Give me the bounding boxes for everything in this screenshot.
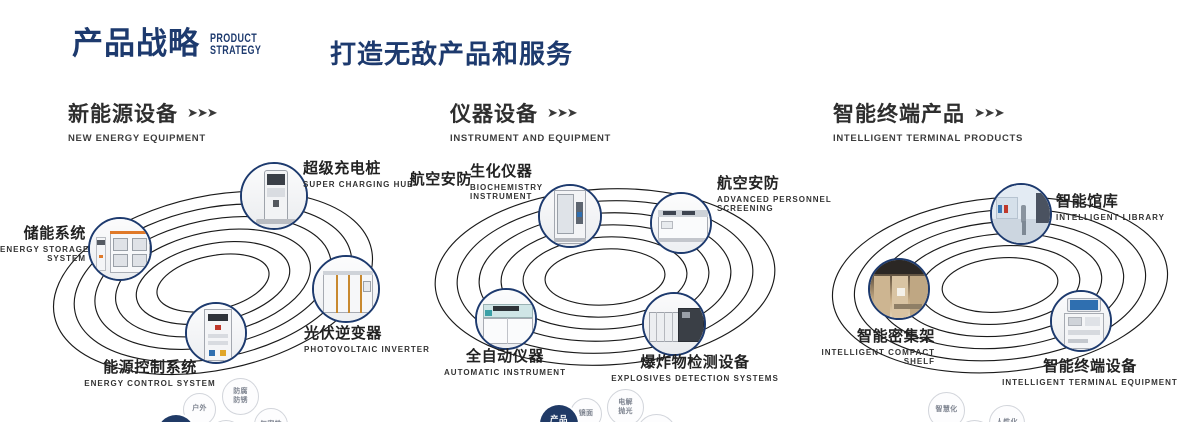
- node-energy-control-system[interactable]: [185, 302, 247, 364]
- feature-bubble: 智慧化: [928, 392, 965, 422]
- node-label-cn: 全自动仪器: [425, 345, 585, 366]
- node-automatic-instrument[interactable]: [475, 288, 537, 350]
- node-label-cn: 生化仪器: [470, 160, 543, 181]
- label-energy-control-system: 能源控制系统 ENERGY CONTROL SYSTEM: [70, 356, 230, 388]
- node-label-en-line2: SHELF: [790, 357, 935, 366]
- section-title-en: NEW ENERGY EQUIPMENT: [68, 133, 217, 144]
- chevrons-icon: ➤➤➤: [974, 105, 1004, 121]
- node-explosives-detection-systems[interactable]: [642, 292, 706, 356]
- node-label-en-line1: INTELLIGENT COMPACT: [790, 348, 935, 357]
- page-title-en-line2: STRATEGY: [210, 46, 261, 58]
- node-biochemistry-instrument[interactable]: [538, 184, 602, 248]
- node-intelligent-compact-shelf[interactable]: [868, 258, 930, 320]
- feature-label-line1: 智慧化: [936, 406, 958, 415]
- page-title-en-line1: PRODUCT: [210, 34, 261, 46]
- node-label-cn: 能源控制系统: [70, 356, 230, 377]
- node-label-cn: 智能终端设备: [995, 355, 1185, 376]
- feature-label-line1: 防腐: [233, 388, 248, 397]
- page-title-en: PRODUCT STRATEGY: [210, 34, 261, 57]
- node-label-cn: 航空安防: [400, 168, 472, 189]
- node-label-en-line2: INSTRUMENT: [470, 192, 543, 201]
- label-energy-storage-system: 储能系统 ENERGY STORAGE SYSTEM: [0, 222, 86, 263]
- label-automatic-instrument: 全自动仪器 AUTOMATIC INSTRUMENT: [425, 345, 585, 377]
- feature-bubble: 人性化: [989, 405, 1025, 422]
- feature-label-line2: 抛光: [618, 408, 633, 417]
- product-strategy-infographic: 产品战略 PRODUCT STRATEGY 打造无敌产品和服务 新能源设备 ➤➤…: [0, 0, 1200, 422]
- node-label-en: EXPLOSIVES DETECTION SYSTEMS: [600, 374, 790, 383]
- node-label-cn: 超级充电桩: [303, 157, 414, 178]
- section-header-intelligent-terminal: 智能终端产品 ➤➤➤ INTELLIGENT TERMINAL PRODUCTS: [833, 98, 1023, 144]
- cluster-instrument-and-equipment: 镜面 电解 抛光 零缺陷 钣金与 机加工结合 产品 特点 航空安防: [400, 150, 820, 400]
- section-title-en: INTELLIGENT TERMINAL PRODUCTS: [833, 133, 1023, 144]
- feature-label-line1: 镜面: [579, 410, 594, 419]
- section-title-cn: 新能源设备: [68, 98, 178, 128]
- node-intelligent-terminal-equipment[interactable]: [1050, 290, 1112, 352]
- feature-label-line2: 防锈: [233, 397, 248, 406]
- label-intelligent-compact-shelf: 智能密集架 INTELLIGENT COMPACT SHELF: [790, 325, 935, 366]
- section-header-new-energy: 新能源设备 ➤➤➤ NEW ENERGY EQUIPMENT: [68, 98, 217, 144]
- node-energy-storage-system[interactable]: [88, 217, 152, 281]
- page-subtitle: 打造无敌产品和服务: [330, 34, 573, 71]
- node-label-en: INTELLIGENT TERMINAL EQUIPMENT: [995, 378, 1185, 387]
- chevrons-icon: ➤➤➤: [187, 105, 217, 121]
- feature-label-line1: 人性化: [996, 419, 1018, 422]
- node-label-cn: 智能密集架: [790, 325, 935, 346]
- node-advanced-personnel-screening[interactable]: [650, 192, 712, 254]
- chevrons-icon: ➤➤➤: [547, 105, 577, 121]
- node-photovoltaic-inverter[interactable]: [312, 255, 380, 323]
- label-aviation-security-left: 航空安防: [400, 168, 472, 189]
- core-label-line1: 产品: [550, 414, 568, 422]
- cluster-new-energy-equipment: 户外 防腐 防锈 防水 防尘 气密性 产品 特点: [0, 150, 420, 400]
- feature-label-line1: 电解: [618, 399, 633, 408]
- cluster-intelligent-terminal-products: 智慧化 数字化 人性化 产品 特点 智能馆库: [800, 150, 1200, 400]
- node-intelligent-library[interactable]: [990, 183, 1052, 245]
- node-label-en: ENERGY CONTROL SYSTEM: [70, 379, 230, 388]
- node-label-en: AUTOMATIC INSTRUMENT: [425, 368, 585, 377]
- feature-bubble: 户外: [183, 393, 216, 422]
- section-title-cn: 智能终端产品: [833, 98, 965, 128]
- label-explosives-detection-systems: 爆炸物检测设备 EXPLOSIVES DETECTION SYSTEMS: [600, 351, 790, 383]
- label-biochemistry-instrument: 生化仪器 BIOCHEMISTRY INSTRUMENT: [470, 160, 543, 201]
- section-title-en: INSTRUMENT AND EQUIPMENT: [450, 133, 611, 144]
- node-label-en: INTELLIGENT LIBRARY: [1056, 213, 1165, 222]
- feature-bubble: 气密性: [254, 408, 288, 422]
- node-label-cn: 储能系统: [0, 222, 86, 243]
- node-label-cn: 智能馆库: [1056, 190, 1165, 211]
- page-title-block: 产品战略 PRODUCT STRATEGY: [72, 28, 276, 59]
- node-label-en-line1: BIOCHEMISTRY: [470, 183, 543, 192]
- section-title-cn: 仪器设备: [450, 98, 538, 128]
- section-header-instrument: 仪器设备 ➤➤➤ INSTRUMENT AND EQUIPMENT: [450, 98, 611, 144]
- node-label-en: SUPER CHARGING HUB: [303, 180, 414, 189]
- feature-bubble: 电解 抛光: [607, 389, 644, 422]
- node-super-charging-hub[interactable]: [240, 162, 308, 230]
- feature-label-line1: 户外: [192, 405, 207, 414]
- node-label-en-line2: SYSTEM: [0, 254, 86, 263]
- page-title: 产品战略: [72, 28, 200, 59]
- label-intelligent-library: 智能馆库 INTELLIGENT LIBRARY: [1056, 190, 1165, 222]
- label-intelligent-terminal-equipment: 智能终端设备 INTELLIGENT TERMINAL EQUIPMENT: [995, 355, 1185, 387]
- node-label-cn: 爆炸物检测设备: [600, 351, 790, 372]
- node-label-en-line1: ENERGY STORAGE: [0, 245, 86, 254]
- label-super-charging-hub: 超级充电桩 SUPER CHARGING HUB: [303, 157, 414, 189]
